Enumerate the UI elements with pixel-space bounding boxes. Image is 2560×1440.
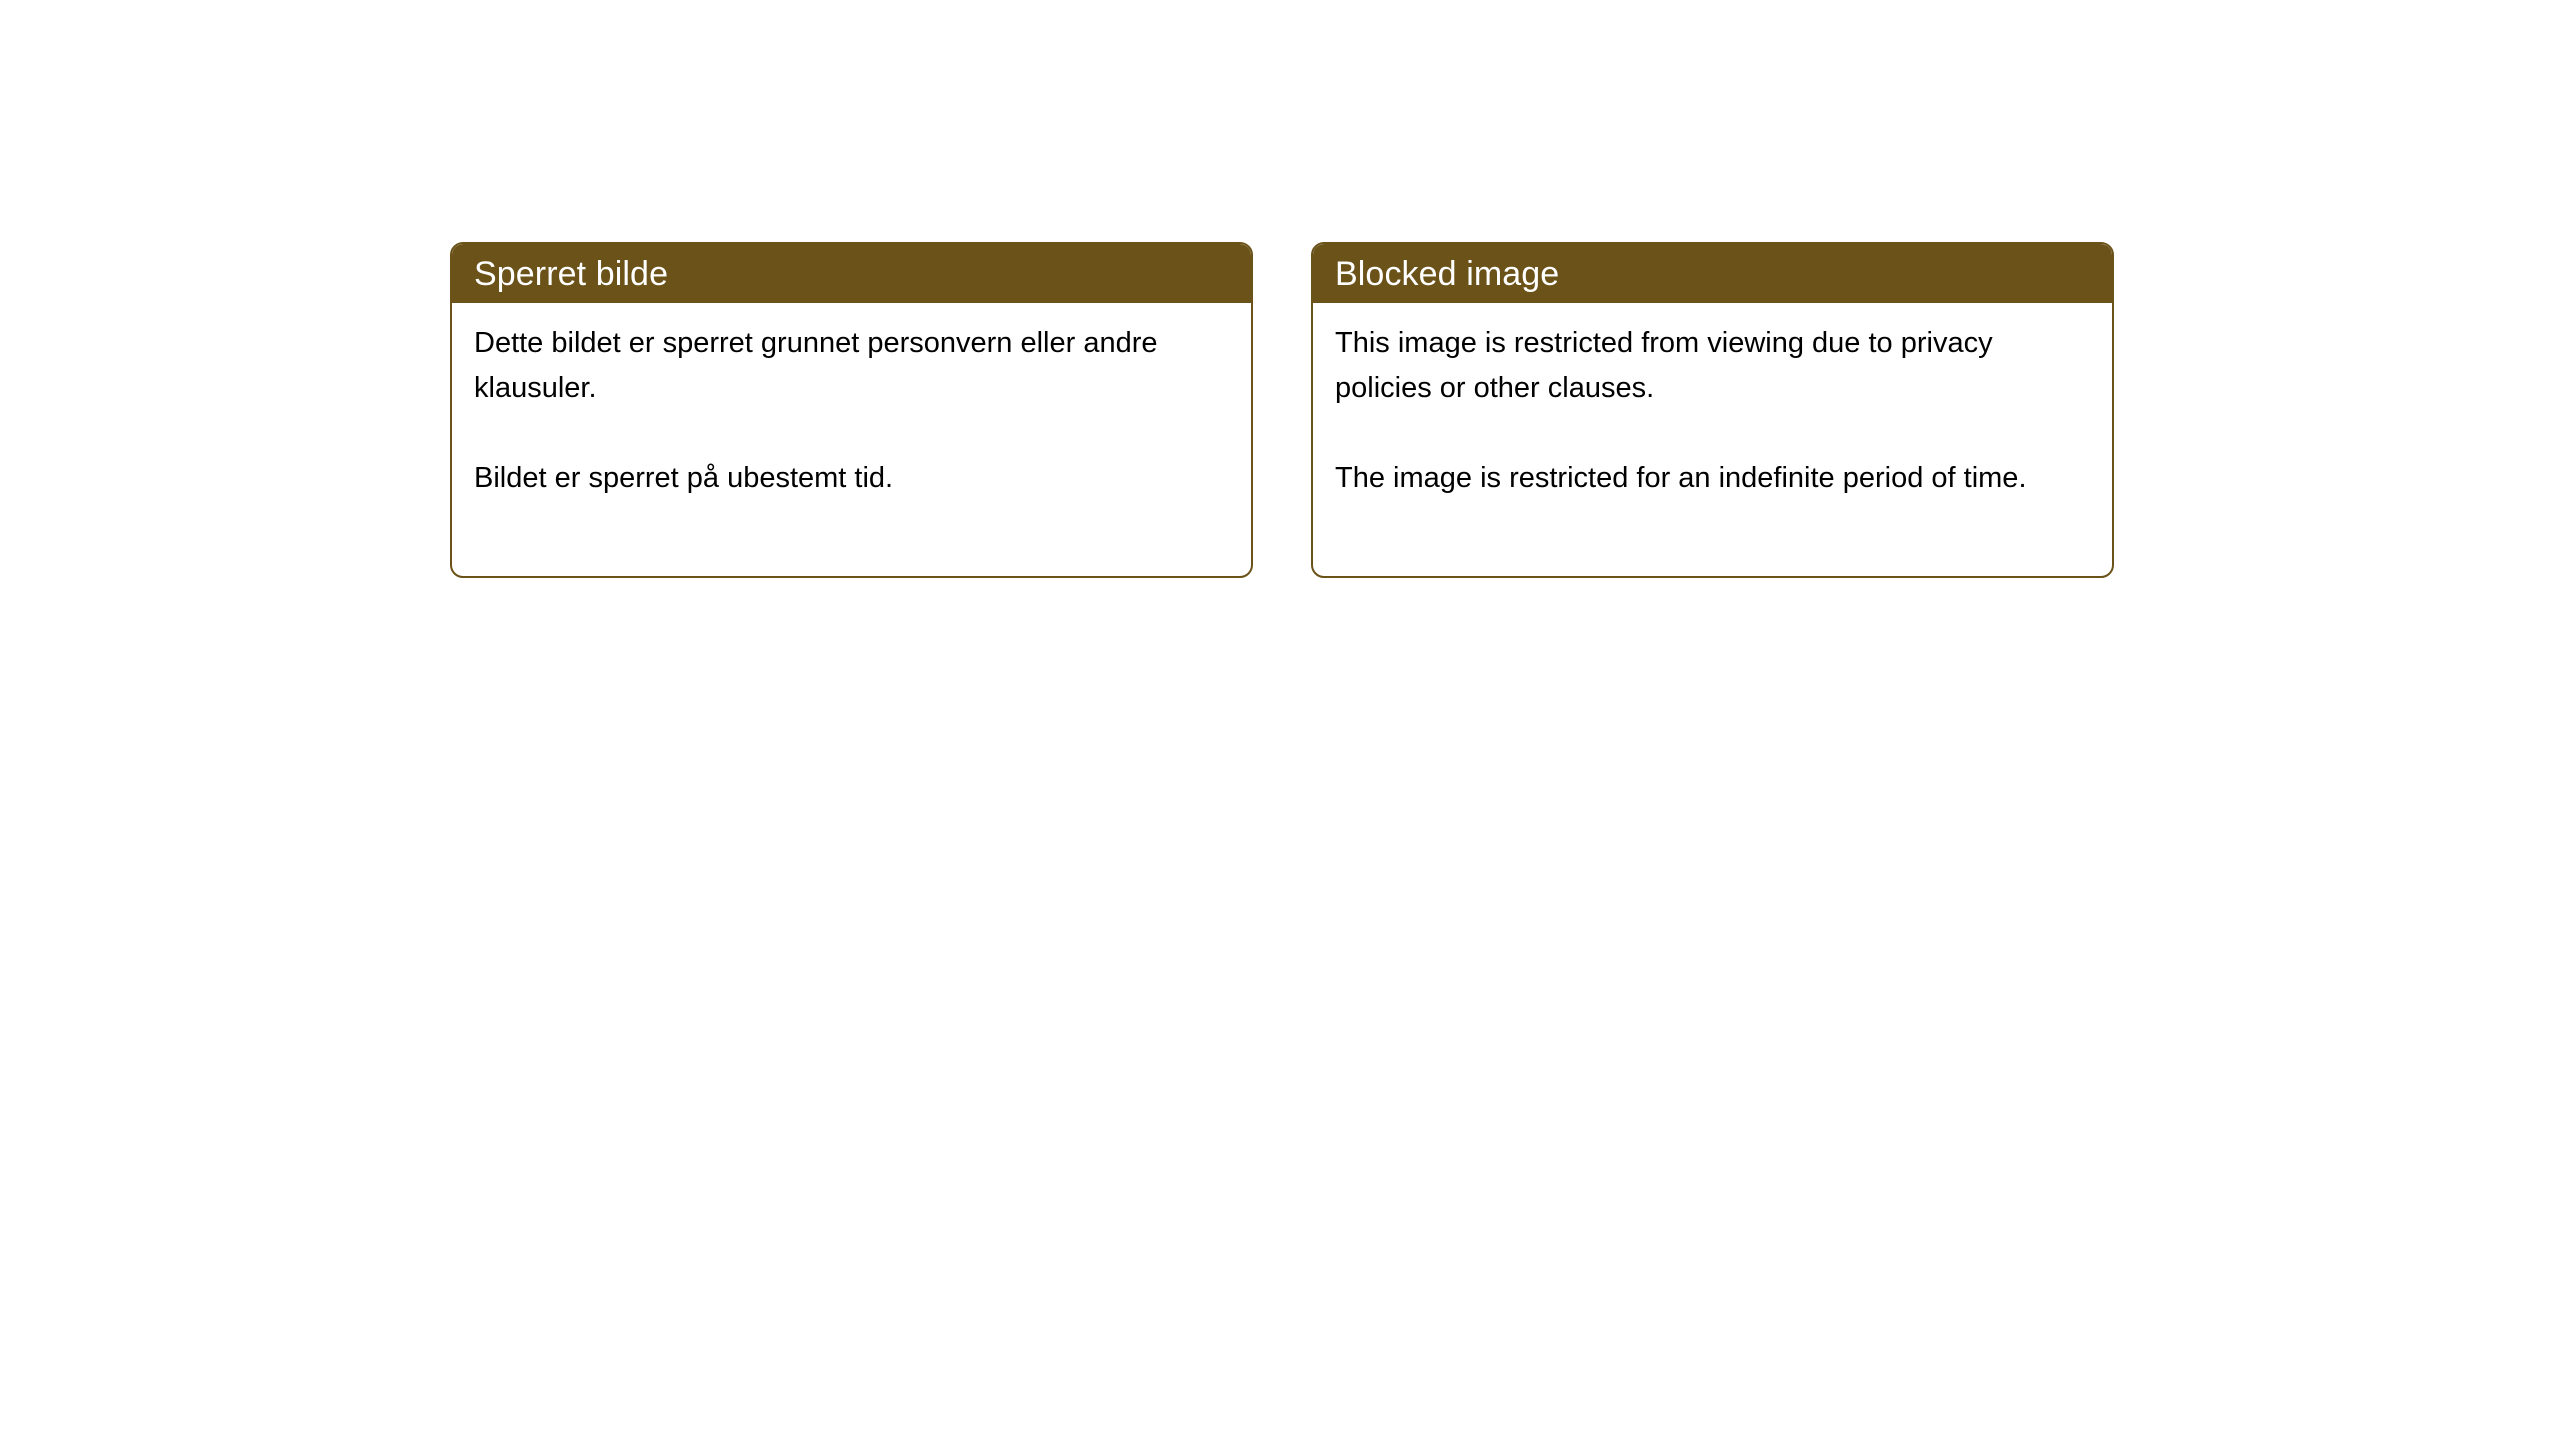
card-paragraph-primary-english: This image is restricted from viewing du… — [1335, 321, 2092, 411]
blocked-image-card-norwegian: Sperret bilde Dette bildet er sperret gr… — [450, 242, 1253, 578]
card-body-english: This image is restricted from viewing du… — [1313, 303, 2112, 501]
card-paragraph-secondary-norwegian: Bildet er sperret på ubestemt tid. — [474, 456, 1231, 501]
card-header-english: Blocked image — [1313, 244, 2112, 303]
blocked-image-card-english: Blocked image This image is restricted f… — [1311, 242, 2114, 578]
card-paragraph-primary-norwegian: Dette bildet er sperret grunnet personve… — [474, 321, 1231, 411]
card-title-norwegian: Sperret bilde — [474, 254, 668, 294]
card-title-english: Blocked image — [1335, 254, 1559, 294]
card-body-norwegian: Dette bildet er sperret grunnet personve… — [452, 303, 1251, 501]
card-header-norwegian: Sperret bilde — [452, 244, 1251, 303]
blocked-image-notice-area: Sperret bilde Dette bildet er sperret gr… — [450, 242, 2112, 580]
card-paragraph-secondary-english: The image is restricted for an indefinit… — [1335, 456, 2092, 501]
